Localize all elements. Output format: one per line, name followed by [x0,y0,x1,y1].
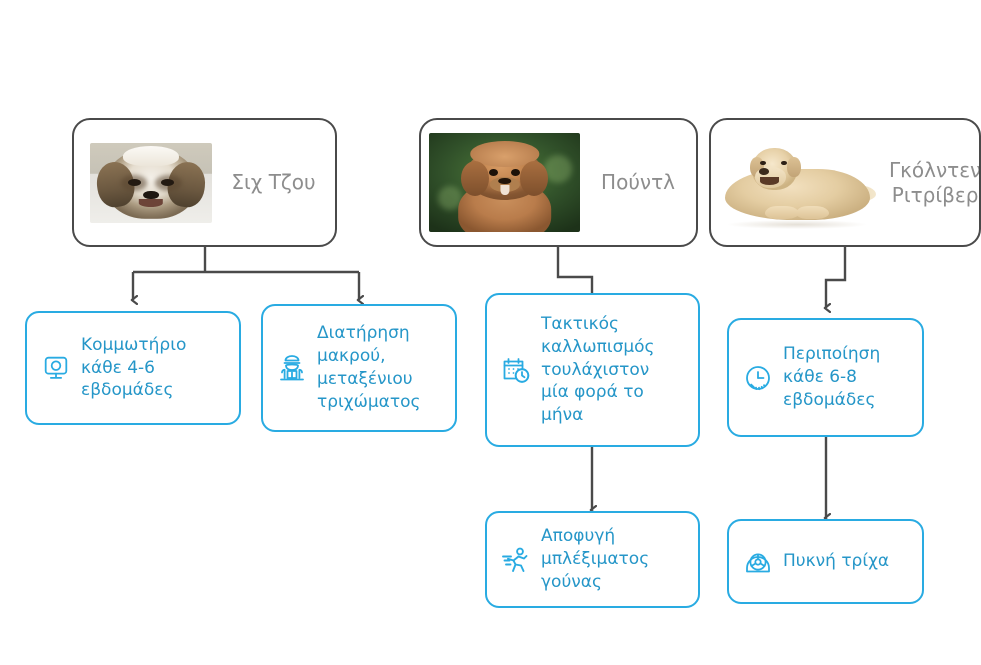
poodle-photo [429,133,580,232]
breed-card-shih-tzu[interactable]: Σιχ Τζου [72,118,337,247]
breed-card-golden-retriever[interactable]: Γκόλντεν Ριτρίβερ [709,118,981,247]
breed-label-golden-retriever: Γκόλντεν Ριτρίβερ [883,158,981,208]
care-card-dense-hair[interactable]: Πυκνή τρίχα [727,519,924,604]
shih-tzu-photo [90,143,212,223]
connector-shih-tzu-branch [133,247,359,300]
care-label-care-6-8: Περιποίηση κάθε 6-8 εβδομάδες [783,343,912,412]
monitor-icon [39,351,73,385]
care-label-monthly-grooming: Τακτικός καλλωπισμός τουλάχιστον μία φορ… [541,313,688,428]
care-card-monthly-grooming[interactable]: Τακτικός καλλωπισμός τουλάχιστον μία φορ… [485,293,700,447]
care-card-long-silky-coat[interactable]: Διατήρηση μακρού, μεταξένιου τριχώματος [261,304,457,432]
calendar-clock-icon [499,353,533,387]
care-label-avoid-matting: Αποφυγή μπλέξιματος γούνας [541,525,688,594]
care-card-grooming-4-6[interactable]: Κομμωτήριο κάθε 4-6 εβδομάδες [25,311,241,425]
care-label-dense-hair: Πυκνή τρίχα [783,550,912,573]
breed-label-shih-tzu: Σιχ Τζου [212,170,335,195]
clock-icon [741,361,775,395]
flowchart-canvas: Σιχ Τζου Πούντλ [0,0,981,665]
care-card-avoid-matting[interactable]: Αποφυγή μπλέξιματος γούνας [485,511,700,608]
care-label-long-silky-coat: Διατήρηση μακρού, μεταξένιου τριχώματος [317,322,445,414]
breed-card-poodle[interactable]: Πούντλ [419,118,698,247]
grooming-station-icon [275,351,309,385]
breed-label-poodle: Πούντλ [580,170,696,195]
tire-icon [741,545,775,579]
care-card-care-6-8[interactable]: Περιποίηση κάθε 6-8 εβδομάδες [727,318,924,437]
running-person-icon [499,543,533,577]
connector-golden-to-care [826,247,845,308]
golden-retriever-photo [715,128,883,238]
care-label-grooming-4-6: Κομμωτήριο κάθε 4-6 εβδομάδες [81,334,229,403]
